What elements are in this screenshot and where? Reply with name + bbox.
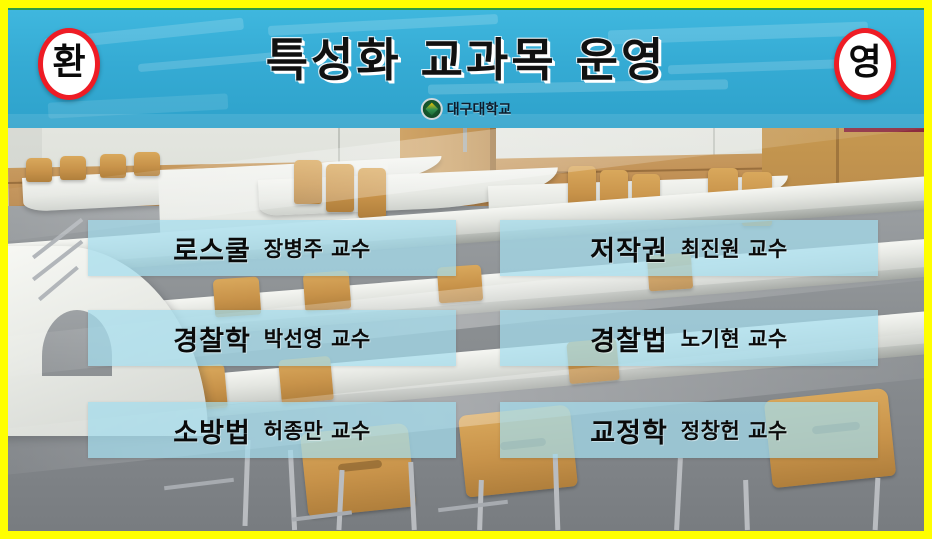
course-subject: 로스쿨 (173, 229, 251, 268)
course-subject: 소방법 (173, 411, 251, 450)
course-subject: 경찰법 (590, 319, 668, 358)
course-professor: 박선영 교수 (264, 323, 371, 353)
course-item[interactable]: 경찰법 노기현 교수 (500, 310, 878, 366)
course-item[interactable]: 저작권 최진원 교수 (500, 220, 878, 276)
course-list: 로스쿨 장병주 교수 저작권 최진원 교수 경찰학 박선영 교수 경찰법 노기현… (8, 10, 924, 531)
course-professor: 최진원 교수 (681, 233, 788, 263)
course-item[interactable]: 경찰학 박선영 교수 (88, 310, 456, 366)
course-professor: 정창헌 교수 (681, 415, 788, 445)
course-item[interactable]: 로스쿨 장병주 교수 (88, 220, 456, 276)
poster-root: 특성화 교과목 운영 대구대학교 환 영 로스쿨 장병주 교수 (0, 0, 932, 539)
course-professor: 노기현 교수 (681, 323, 788, 353)
course-subject: 교정학 (590, 411, 668, 450)
poster-canvas: 특성화 교과목 운영 대구대학교 환 영 로스쿨 장병주 교수 (8, 10, 924, 531)
course-professor: 장병주 교수 (264, 233, 371, 263)
course-professor: 허종만 교수 (264, 415, 371, 445)
course-item[interactable]: 소방법 허종만 교수 (88, 402, 456, 458)
course-subject: 저작권 (590, 229, 668, 268)
poster-inner-frame: 특성화 교과목 운영 대구대학교 환 영 로스쿨 장병주 교수 (8, 8, 924, 531)
course-item[interactable]: 교정학 정창헌 교수 (500, 402, 878, 458)
course-subject: 경찰학 (173, 319, 251, 358)
